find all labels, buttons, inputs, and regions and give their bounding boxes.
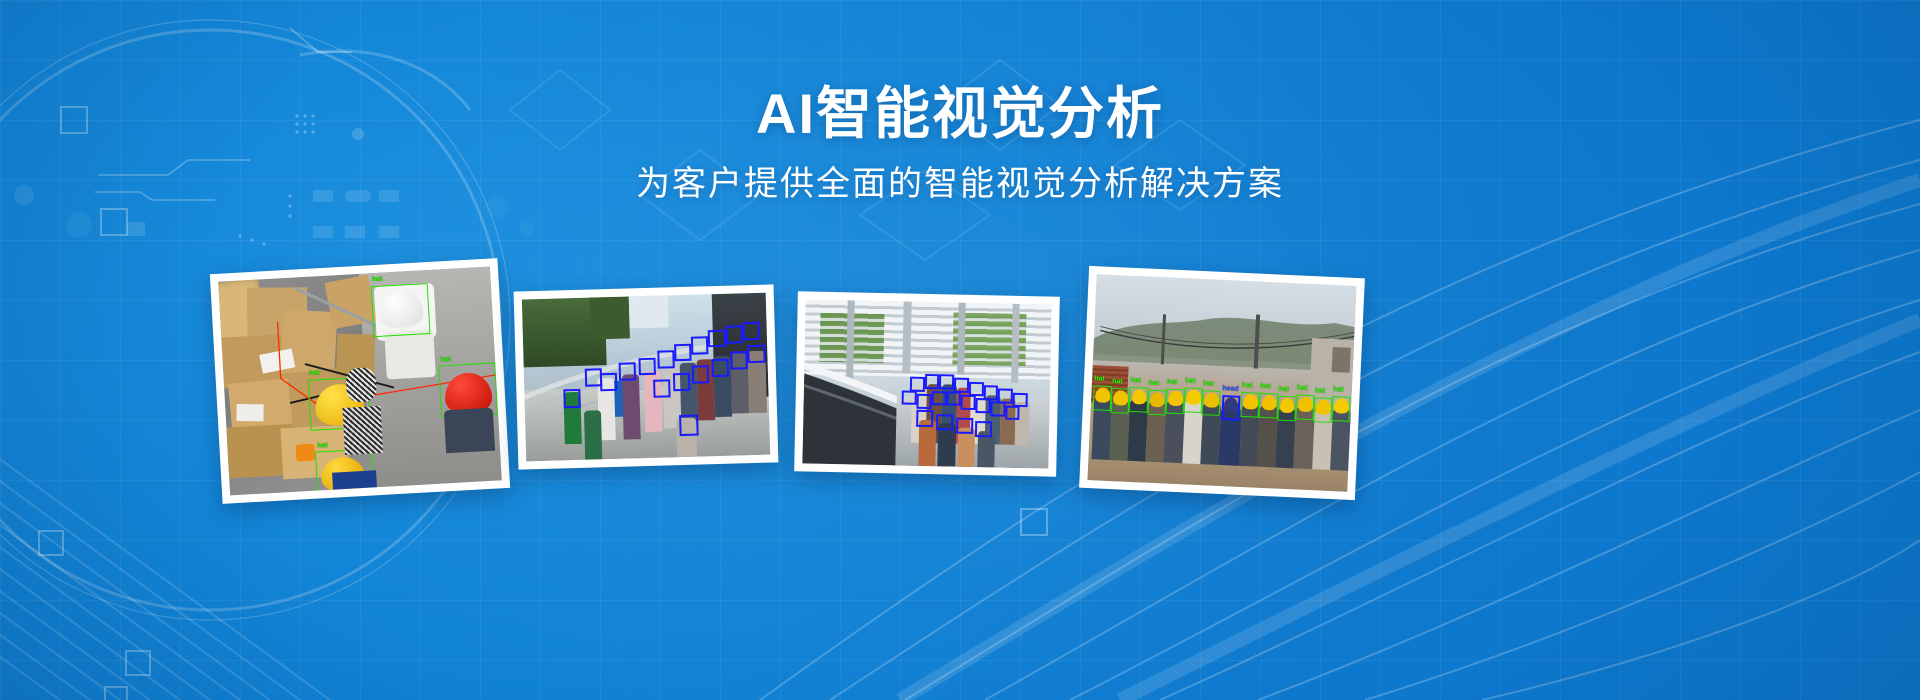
decor-square-outline	[125, 650, 151, 676]
decor-square-filled	[127, 222, 145, 236]
detection-label-hat: hat	[1130, 377, 1141, 385]
detection-label-hat: hat	[440, 356, 451, 365]
detection-box-blue	[731, 351, 749, 369]
worksite-detection-image: hat hat hat hat hat hat hat head hat h	[1087, 274, 1356, 492]
detection-box-blue	[1005, 405, 1020, 420]
detection-label-hat: hat	[1148, 380, 1159, 388]
detection-box-blue	[961, 395, 976, 410]
detection-label-hat: hat	[309, 369, 320, 378]
detection-box-blue	[708, 329, 726, 347]
detection-label-hat: hat	[1112, 378, 1123, 386]
detection-box-blue	[955, 417, 973, 434]
detection-label-hat: hat	[1167, 378, 1178, 386]
detection-box-blue	[673, 373, 691, 391]
detection-box-green	[1129, 387, 1148, 413]
decor-dot	[520, 222, 534, 236]
detection-box-blue	[931, 391, 946, 406]
detection-box-blue	[619, 363, 637, 381]
detection-label-head: head	[1222, 385, 1239, 394]
detection-box-green	[1241, 392, 1260, 418]
detection-box-blue	[600, 373, 618, 391]
detection-box-green	[1313, 398, 1332, 424]
detection-box-green	[1295, 395, 1314, 421]
detection-label-hat: hat	[1278, 386, 1289, 394]
detection-box-blue	[692, 365, 710, 383]
decor-square-outline	[100, 208, 128, 236]
detection-box-green	[1184, 387, 1203, 413]
decor-square-filled	[379, 226, 399, 238]
warehouse-detection-image: hat hat hat hat	[218, 267, 502, 496]
platform-detection-image	[802, 299, 1051, 468]
decor-square-outline	[38, 530, 64, 556]
decor-square-outline	[104, 686, 128, 700]
detection-box-blue	[742, 322, 760, 340]
detection-box-blue	[1221, 395, 1240, 421]
detection-label-hat: hat	[1094, 375, 1105, 383]
detection-box-green	[1277, 396, 1296, 422]
detection-box-blue	[653, 380, 671, 398]
detection-box-blue	[679, 414, 699, 436]
detection-label-hat: hat	[1203, 380, 1214, 388]
decor-dot	[66, 212, 92, 238]
detection-box-blue	[657, 350, 675, 368]
detection-box-green	[1093, 385, 1112, 411]
detection-box-green	[1202, 390, 1221, 416]
detection-label-hat: hat	[1297, 384, 1308, 392]
detection-box-green	[1147, 390, 1166, 416]
gallery-card-platform[interactable]	[794, 291, 1060, 476]
detection-showcase-gallery: hat hat hat hat	[0, 258, 1920, 528]
gallery-card-footbridge[interactable]	[514, 284, 779, 469]
detection-box-blue	[946, 391, 961, 406]
ai-vision-banner: AI智能视觉分析 为客户提供全面的智能视觉分析解决方案	[0, 0, 1920, 700]
page-subtitle: 为客户提供全面的智能视觉分析解决方案	[0, 164, 1920, 205]
detection-box-blue	[711, 358, 729, 376]
decor-square-filled	[345, 226, 365, 238]
gallery-card-warehouse[interactable]: hat hat hat hat	[210, 258, 510, 504]
detection-box-blue	[975, 421, 993, 438]
detection-label-hat: hat	[1185, 377, 1196, 385]
detection-label-hat: hat	[1333, 386, 1344, 394]
detection-box-blue	[990, 402, 1005, 417]
detection-box-blue	[976, 398, 991, 413]
detection-box-blue	[725, 326, 743, 344]
detection-label-hat: hat	[372, 276, 383, 285]
detection-label-hat: hat	[1315, 387, 1326, 395]
detection-box-green	[371, 283, 431, 337]
detection-box-blue	[924, 374, 939, 389]
footbridge-detection-image	[522, 293, 770, 462]
detection-box-green	[1259, 393, 1278, 419]
detection-label-hat: hat	[1260, 383, 1271, 391]
detection-label-hat: hat	[317, 442, 328, 451]
detection-box-blue	[902, 390, 917, 405]
detection-box-blue	[691, 336, 709, 354]
detection-box-blue	[916, 410, 934, 427]
detection-label-hat: hat	[1242, 382, 1253, 390]
detection-box-green	[1332, 396, 1351, 422]
detection-box-blue	[748, 345, 766, 363]
page-title: AI智能视觉分析	[0, 84, 1920, 144]
detection-box-green	[1165, 389, 1184, 415]
detection-box-blue	[917, 394, 932, 409]
gallery-card-worksite[interactable]: hat hat hat hat hat hat hat head hat h	[1079, 266, 1365, 500]
detection-box-blue	[674, 343, 692, 361]
detection-box-blue	[638, 357, 656, 375]
decor-square-filled	[313, 226, 333, 238]
detection-box-blue	[563, 389, 581, 409]
headline-block: AI智能视觉分析 为客户提供全面的智能视觉分析解决方案	[0, 84, 1920, 205]
detection-box-blue	[939, 374, 954, 389]
detection-box-blue	[936, 414, 954, 431]
detection-box-green	[1111, 388, 1130, 414]
